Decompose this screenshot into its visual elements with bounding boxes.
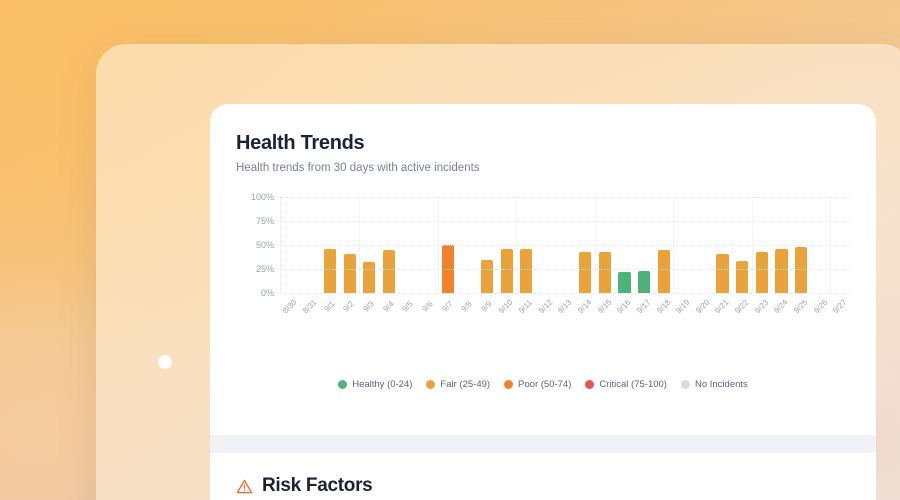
x-axis-tick: 9/26 [811, 296, 831, 311]
legend-item[interactable]: Fair (25-49) [426, 379, 490, 390]
y-axis-tick-label: 75% [256, 216, 274, 226]
chart-gridline [281, 221, 850, 222]
x-axis-tick-label: 9/18 [655, 298, 672, 315]
chart-y-axis: 100%75%50%25%0% [236, 197, 274, 293]
chart-bar[interactable] [736, 261, 748, 293]
warning-triangle-icon [236, 478, 253, 495]
chart-bar[interactable] [599, 252, 611, 293]
chart-bar[interactable] [638, 271, 650, 293]
x-axis-tick-label: 9/10 [497, 298, 514, 315]
home-indicator-dot[interactable] [158, 355, 172, 369]
legend-item[interactable]: Poor (50-74) [504, 379, 571, 390]
legend-color-swatch [426, 380, 435, 389]
legend-color-swatch [338, 380, 347, 389]
x-axis-tick-label: 9/17 [635, 298, 652, 315]
x-axis-tick-label: 9/6 [420, 299, 434, 313]
chart-bar[interactable] [579, 252, 591, 293]
chart-vertical-gridline [359, 197, 360, 293]
x-axis-tick: 9/6 [418, 296, 438, 311]
legend-item[interactable]: No Incidents [681, 379, 748, 390]
health-trends-card: Health Trends Health trends from 30 days… [210, 104, 876, 390]
legend-label: Fair (25-49) [440, 379, 490, 390]
x-axis-tick: 9/14 [575, 296, 595, 311]
x-axis-tick: 9/19 [673, 296, 693, 311]
x-axis-tick: 9/12 [536, 296, 556, 311]
y-axis-tick-label: 50% [256, 240, 274, 250]
x-axis-tick: 9/11 [516, 296, 536, 311]
x-axis-tick-label: 9/25 [792, 298, 809, 315]
chart-bar[interactable] [501, 249, 513, 293]
x-axis-tick: 9/2 [339, 296, 359, 311]
card-separator [210, 435, 876, 453]
chart-bar[interactable] [481, 260, 493, 293]
x-axis-tick: 9/13 [555, 296, 575, 311]
x-axis-tick: 9/1 [319, 296, 339, 311]
legend-color-swatch [585, 380, 594, 389]
legend-label: Critical (75-100) [599, 379, 667, 390]
x-axis-tick-label: 9/20 [694, 298, 711, 315]
x-axis-tick: 9/17 [634, 296, 654, 311]
x-axis-tick-label: 9/22 [733, 298, 750, 315]
page-title: Health Trends [236, 132, 850, 155]
page-subtitle: Health trends from 30 days with active i… [236, 162, 850, 174]
tablet-screen: Health Trends Health trends from 30 days… [210, 104, 876, 500]
x-axis-tick: 9/3 [359, 296, 379, 311]
x-axis-tick-label: 9/2 [342, 299, 356, 313]
x-axis-tick-label: 9/16 [615, 298, 632, 315]
chart-bar[interactable] [344, 254, 356, 293]
x-axis-tick-label: 9/15 [596, 298, 613, 315]
health-trends-chart: 100%75%50%25%0% 8/308/319/19/29/39/49/59… [236, 197, 850, 317]
chart-gridline [281, 245, 850, 246]
x-axis-tick-label: 9/12 [537, 298, 554, 315]
risk-factors-card: Risk Factors Risk factors requiring imme… [210, 453, 876, 500]
chart-gridline [281, 269, 850, 270]
x-axis-tick: 9/18 [653, 296, 673, 311]
x-axis-tick: 9/27 [830, 296, 850, 311]
x-axis-tick-label: 9/7 [440, 299, 454, 313]
chart-plot-area [280, 197, 850, 293]
chart-gridline [281, 197, 850, 198]
chart-bar[interactable] [324, 249, 336, 293]
chart-x-axis: 8/308/319/19/29/39/49/59/69/79/89/99/109… [280, 296, 850, 311]
chart-bar[interactable] [363, 262, 375, 293]
legend-item[interactable]: Critical (75-100) [585, 379, 667, 390]
x-axis-tick-label: 8/31 [301, 298, 318, 315]
legend-color-swatch [504, 380, 513, 389]
legend-label: No Incidents [695, 379, 748, 390]
x-axis-tick: 9/25 [791, 296, 811, 311]
risk-factors-header: Risk Factors [236, 475, 850, 497]
chart-bar[interactable] [520, 249, 532, 293]
x-axis-tick-label: 9/9 [479, 299, 493, 313]
x-axis-tick-label: 9/19 [674, 298, 691, 315]
chart-bar[interactable] [775, 249, 787, 293]
x-axis-tick: 9/9 [477, 296, 497, 311]
chart-vertical-gridline [673, 197, 674, 293]
risk-factors-title: Risk Factors [262, 475, 372, 497]
chart-vertical-gridline [595, 197, 596, 293]
x-axis-tick: 9/20 [693, 296, 713, 311]
chart-vertical-gridline [752, 197, 753, 293]
chart-bar[interactable] [658, 250, 670, 293]
x-axis-tick: 9/15 [595, 296, 615, 311]
chart-vertical-gridline [516, 197, 517, 293]
x-axis-tick-label: 9/1 [322, 299, 336, 313]
x-axis-tick-label: 9/23 [753, 298, 770, 315]
x-axis-tick: 9/23 [752, 296, 772, 311]
x-axis-tick: 8/31 [300, 296, 320, 311]
chart-bar[interactable] [756, 252, 768, 293]
x-axis-tick-label: 9/14 [576, 298, 593, 315]
x-axis-tick-label: 9/26 [812, 298, 829, 315]
chart-vertical-gridline [830, 197, 831, 293]
y-axis-tick-label: 100% [251, 192, 274, 202]
chart-bar[interactable] [618, 272, 630, 293]
x-axis-tick-label: 9/3 [361, 299, 375, 313]
x-axis-tick: 9/10 [496, 296, 516, 311]
legend-color-swatch [681, 380, 690, 389]
x-axis-tick-label: 9/5 [401, 299, 415, 313]
x-axis-tick-label: 9/21 [714, 298, 731, 315]
legend-item[interactable]: Healthy (0-24) [338, 379, 412, 390]
x-axis-tick: 9/24 [771, 296, 791, 311]
x-axis-tick-label: 9/4 [381, 299, 395, 313]
y-axis-tick-label: 0% [261, 288, 274, 298]
x-axis-tick: 9/8 [457, 296, 477, 311]
x-axis-tick: 9/5 [398, 296, 418, 311]
x-axis-tick-label: 9/11 [517, 298, 534, 315]
x-axis-tick: 9/16 [614, 296, 634, 311]
chart-gridline [281, 293, 850, 294]
chart-vertical-gridline [438, 197, 439, 293]
x-axis-tick-label: 9/24 [773, 298, 790, 315]
legend-label: Poor (50-74) [518, 379, 571, 390]
x-axis-tick: 9/4 [378, 296, 398, 311]
chart-bar[interactable] [383, 250, 395, 293]
x-axis-tick-label: 9/8 [460, 299, 474, 313]
x-axis-tick-label: 9/13 [556, 298, 573, 315]
x-axis-tick-label: 9/27 [832, 298, 849, 315]
x-axis-tick: 9/7 [437, 296, 457, 311]
legend-label: Healthy (0-24) [352, 379, 412, 390]
chart-legend: Healthy (0-24)Fair (25-49)Poor (50-74)Cr… [236, 379, 850, 390]
x-axis-tick: 9/21 [712, 296, 732, 311]
x-axis-tick: 9/22 [732, 296, 752, 311]
chart-bar[interactable] [716, 254, 728, 293]
x-axis-tick: 8/30 [280, 296, 300, 311]
x-axis-tick-label: 8/30 [281, 298, 298, 315]
y-axis-tick-label: 25% [256, 264, 274, 274]
tablet-frame: Health Trends Health trends from 30 days… [96, 44, 900, 500]
